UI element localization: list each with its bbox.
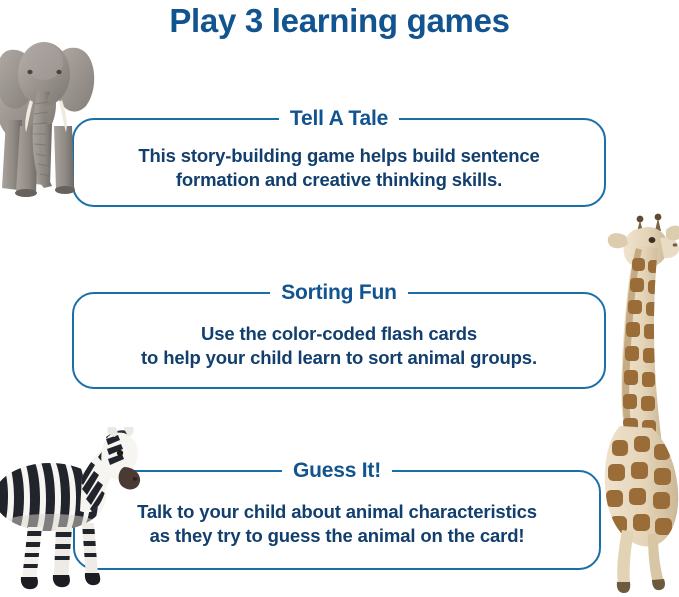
page-title: Play 3 learning games: [0, 2, 679, 40]
card-title-sorting-fun: Sorting Fun: [270, 279, 408, 307]
card-body-sorting-fun: Use the color-coded flash cards to help …: [74, 322, 604, 370]
card-title-wrap-tell-a-tale: Tell A Tale: [74, 105, 604, 133]
card-guess-it: Guess It! Talk to your child about anima…: [73, 470, 601, 570]
card-sorting-fun: Sorting Fun Use the color-coded flash ca…: [72, 292, 606, 389]
product-feature-panel: Play 3 learning games: [0, 0, 679, 597]
giraffe-photo: [596, 212, 679, 594]
card-title-tell-a-tale: Tell A Tale: [279, 105, 399, 133]
card-tell-a-tale: Tell A Tale This story-building game hel…: [72, 118, 606, 207]
card-body-tell-a-tale: This story-building game helps build sen…: [74, 144, 604, 192]
card-title-wrap-sorting-fun: Sorting Fun: [74, 279, 604, 307]
card-title-wrap-guess-it: Guess It!: [75, 457, 599, 485]
card-title-guess-it: Guess It!: [282, 457, 392, 485]
card-body-guess-it: Talk to your child about animal characte…: [75, 500, 599, 548]
